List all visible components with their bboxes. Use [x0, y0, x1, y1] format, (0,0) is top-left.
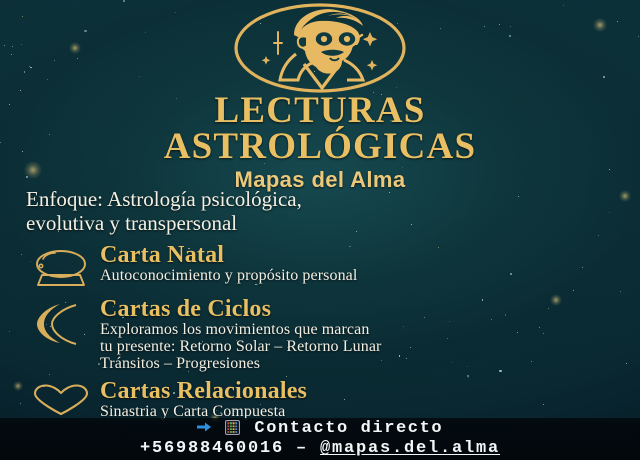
- service-description: Exploramos los movimientos que marcan tu…: [100, 322, 640, 373]
- contact-handle[interactable]: @mapas.del.alma: [320, 439, 500, 458]
- heart-icon: [30, 383, 92, 417]
- service-description: Autoconocimiento y propósito personal: [100, 268, 640, 285]
- service-description-line: Exploramos los movimientos que marcan: [100, 322, 640, 339]
- title-block: LECTURAS ASTROLÓGICAS Mapas del Alma: [0, 93, 640, 193]
- service-item: Carta Natal Autoconocimiento y propósito…: [22, 243, 640, 289]
- service-icon-slot: [22, 379, 100, 417]
- focus-statement: Enfoque: Astrología psicológica, evoluti…: [26, 188, 626, 235]
- service-icon-slot: [22, 243, 100, 289]
- contact-bar: Contacto directo +56988460016 – @mapas.d…: [0, 418, 640, 460]
- contact-details-row: +56988460016 – @mapas.del.alma: [0, 439, 640, 458]
- service-description-line: Autoconocimiento y propósito personal: [100, 268, 640, 285]
- service-text: Cartas de Ciclos Exploramos los movimien…: [100, 297, 640, 373]
- focus-line-2: evolutiva y transpersonal: [26, 212, 626, 236]
- service-title: Carta Natal: [100, 243, 640, 267]
- astrology-poster: LECTURAS ASTROLÓGICAS Mapas del Alma Enf…: [0, 0, 640, 460]
- service-text: Carta Natal Autoconocimiento y propósito…: [100, 243, 640, 285]
- crescent-moon-icon: [30, 301, 92, 345]
- services-list: Carta Natal Autoconocimiento y propósito…: [22, 243, 640, 425]
- focus-line-1: Enfoque: Astrología psicológica,: [26, 188, 626, 212]
- service-item: Cartas de Ciclos Exploramos los movimien…: [22, 297, 640, 373]
- service-item: Cartas Relacionales Sinastria y Carta Co…: [22, 379, 640, 421]
- astrologer-portrait-emblem: [220, 2, 420, 94]
- service-text: Cartas Relacionales Sinastria y Carta Co…: [100, 379, 640, 421]
- crystal-ball-icon: [30, 247, 92, 289]
- contact-heading-text: Contacto directo: [254, 419, 443, 438]
- contact-phone[interactable]: +56988460016: [140, 439, 284, 458]
- service-description-line: Tránsitos – Progresiones: [100, 356, 640, 373]
- service-description-line: tu presente: Retorno Solar – Retorno Lun…: [100, 339, 640, 356]
- emblem-container: [0, 2, 640, 94]
- title-line-1: LECTURAS: [0, 93, 640, 129]
- right-arrow-icon: [197, 420, 212, 439]
- service-title: Cartas Relacionales: [100, 379, 640, 403]
- service-title: Cartas de Ciclos: [100, 297, 640, 321]
- contact-separator: –: [296, 439, 308, 458]
- contact-heading-row: Contacto directo: [0, 419, 640, 441]
- title-line-2: ASTROLÓGICAS: [0, 129, 640, 165]
- service-icon-slot: [22, 297, 100, 345]
- abacus-icon: [225, 420, 240, 441]
